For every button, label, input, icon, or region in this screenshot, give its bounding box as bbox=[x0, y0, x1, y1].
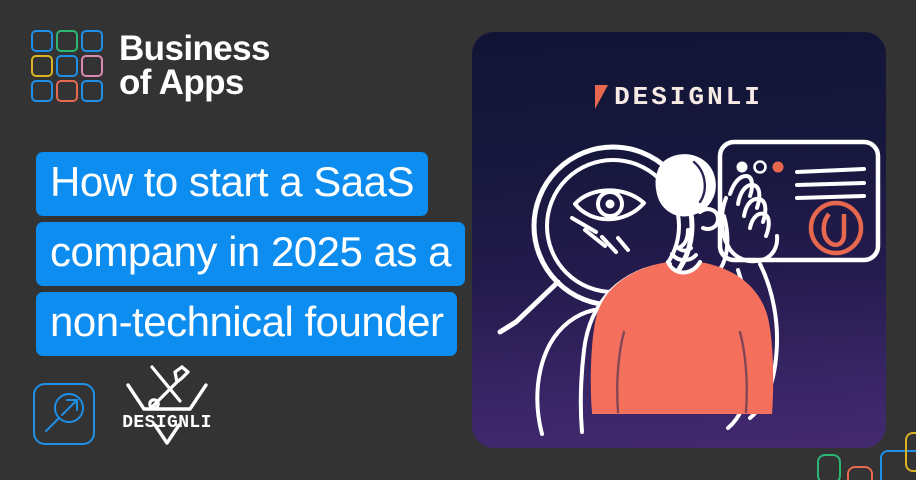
headline-line-2: company in 2025 as a bbox=[36, 222, 465, 286]
logo-grid-cell bbox=[31, 55, 53, 77]
deco-square-yellow bbox=[905, 432, 916, 472]
logo-grid-icon bbox=[31, 30, 103, 102]
illustration-card: DESIGNLI bbox=[472, 32, 886, 448]
search-arrow-icon bbox=[35, 385, 93, 443]
logo-grid-cell bbox=[31, 30, 53, 52]
deco-square-green bbox=[817, 454, 841, 480]
promo-banner: Business of Apps How to start a SaaS com… bbox=[0, 0, 916, 480]
brand-wordmark: Business of Apps bbox=[119, 32, 270, 100]
designli-wordmark: DESIGNLI bbox=[122, 413, 212, 433]
deco-square-coral bbox=[847, 466, 873, 480]
designli-hex-tools-icon: DESIGNLI bbox=[122, 363, 212, 451]
logo-grid-cell bbox=[56, 55, 78, 77]
headline-line-1: How to start a SaaS bbox=[36, 152, 428, 216]
browser-dot-outline bbox=[755, 162, 766, 173]
page-title: How to start a SaaS company in 2025 as a… bbox=[36, 152, 465, 356]
founder-illustration bbox=[472, 32, 886, 448]
browser-brand-icon bbox=[811, 203, 861, 253]
logo-grid-cell bbox=[81, 55, 103, 77]
browser-dot-accent bbox=[773, 162, 784, 173]
business-of-apps-logo[interactable]: Business of Apps bbox=[31, 30, 270, 102]
brand-line-2: of Apps bbox=[119, 66, 270, 100]
logo-grid-cell bbox=[81, 80, 103, 102]
browser-dot-filled bbox=[737, 162, 748, 173]
designli-logo[interactable]: DESIGNLI bbox=[122, 363, 212, 451]
search-arrow-badge[interactable] bbox=[33, 383, 95, 445]
logo-grid-cell bbox=[56, 30, 78, 52]
headline-line-3: non-technical founder bbox=[36, 292, 457, 356]
logo-grid-cell bbox=[31, 80, 53, 102]
logo-grid-cell bbox=[56, 80, 78, 102]
logo-grid-cell bbox=[81, 30, 103, 52]
